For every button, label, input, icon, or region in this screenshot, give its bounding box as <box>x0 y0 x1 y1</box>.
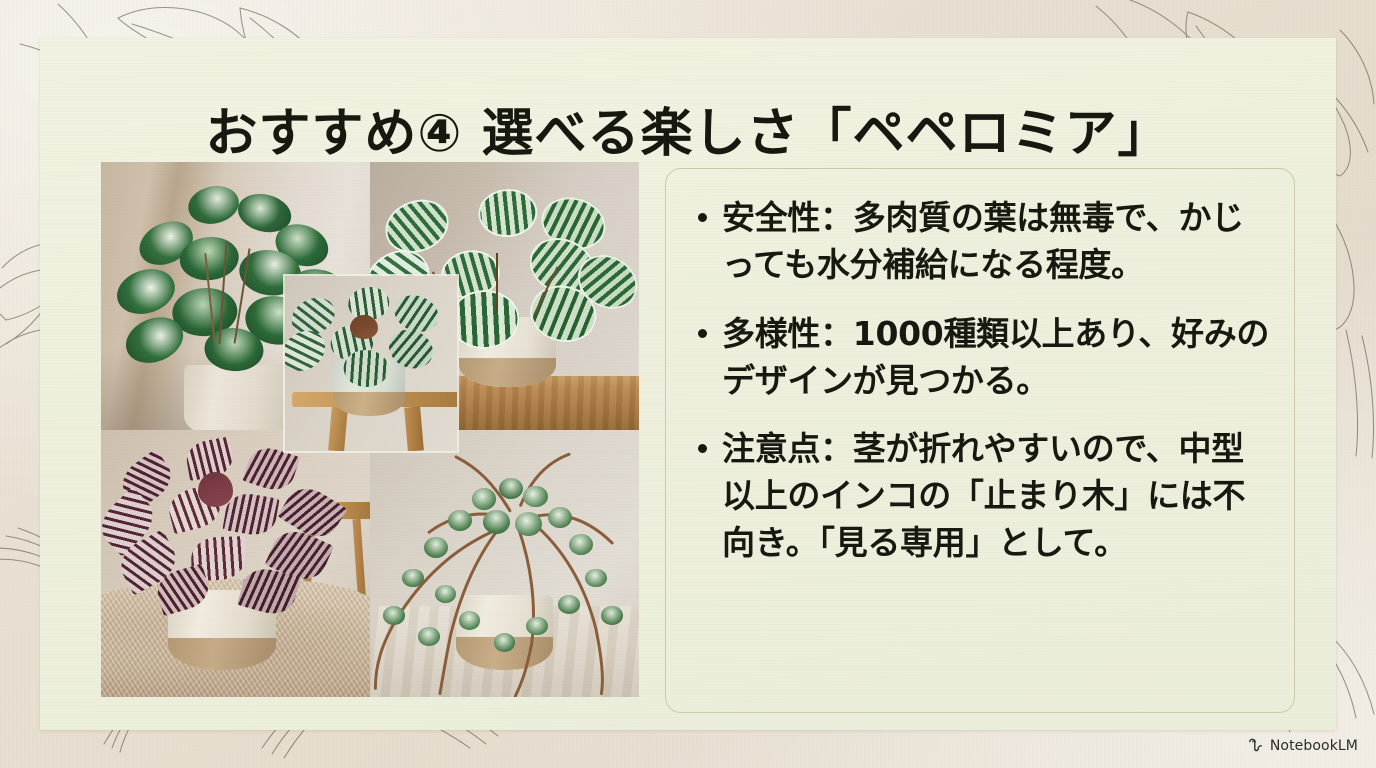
bullet-text-panel: 安全性：多肉質の葉は無毒で、かじっても水分補給になる程度。 多様性：1000種類… <box>665 168 1295 713</box>
bullet-item-safety: 安全性：多肉質の葉は無毒で、かじっても水分補給になる程度。 <box>692 195 1272 289</box>
slide-canvas: おすすめ④ 選べる楽しさ「ペペロミア」 <box>0 0 1376 768</box>
notebooklm-watermark: NotebookLM <box>1247 737 1358 754</box>
photo-red-ripple-peperomia <box>101 430 370 698</box>
page-title: おすすめ④ 選べる楽しさ「ペペロミア」 <box>40 105 1336 165</box>
notebooklm-spiral-icon <box>1247 737 1264 754</box>
bullet-item-caution: 注意点：茎が折れやすいので、中型以上のインコの「止まり木」には不向き。「見る専用… <box>692 426 1272 567</box>
notebooklm-label: NotebookLM <box>1270 738 1358 754</box>
bullet-list: 安全性：多肉質の葉は無毒で、かじっても水分補給になる程度。 多様性：1000種類… <box>666 169 1294 567</box>
slide-card: おすすめ④ 選べる楽しさ「ペペロミア」 <box>40 38 1336 730</box>
bullet-item-variety: 多様性：1000種類以上あり、好みのデザインが見つかる。 <box>692 311 1272 405</box>
photo-trailing-peperomia <box>370 430 639 698</box>
photo-center-overlay-peperomia <box>285 276 457 451</box>
